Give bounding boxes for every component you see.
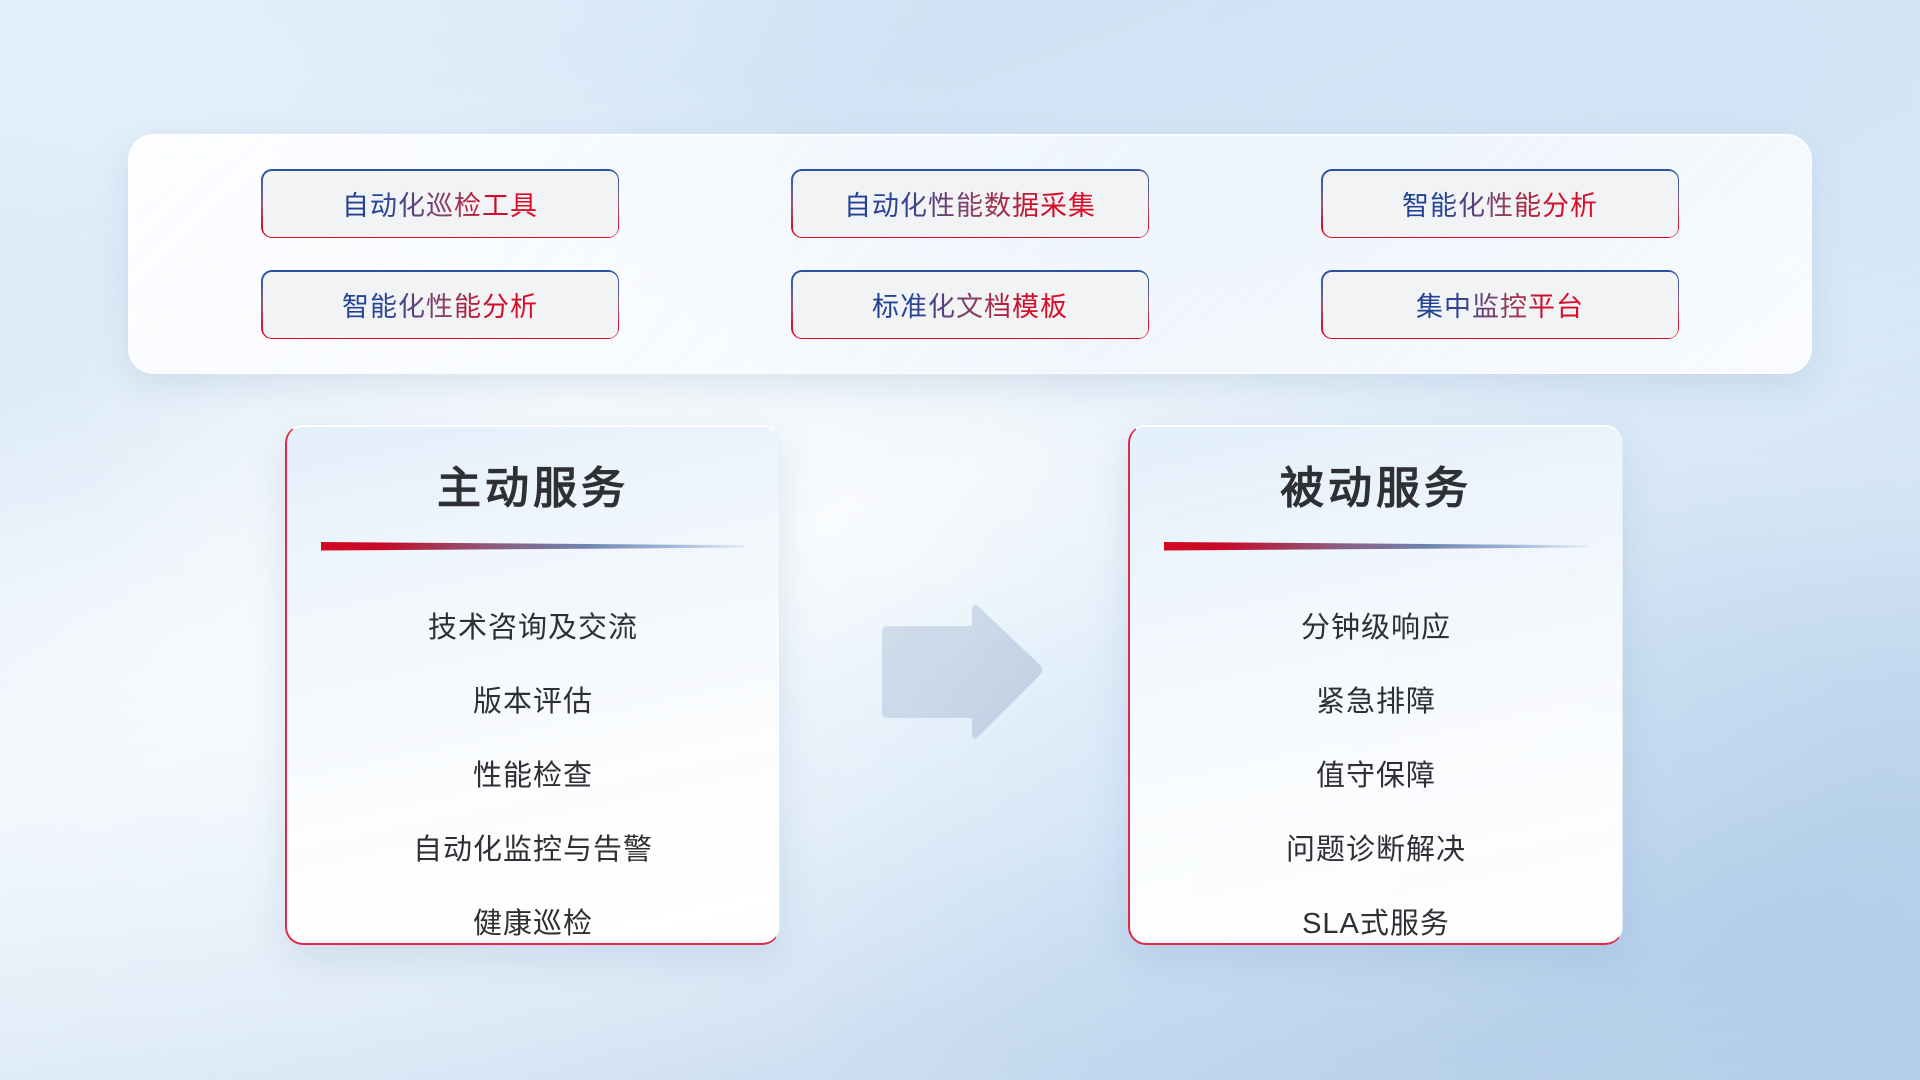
- service-card-proactive-title: 主动服务: [287, 452, 779, 516]
- capability-tag-4-label: 标准化文档模板: [872, 285, 1068, 324]
- slide-canvas: 自动化巡检工具 自动化性能数据采集 智能化性能分析 智能化性能分析: [0, 0, 1920, 1080]
- capability-tag-4-surface: 标准化文档模板: [793, 272, 1148, 338]
- list-item: 技术咨询及交流: [287, 588, 779, 662]
- list-item: SLA式服务: [1130, 884, 1622, 945]
- list-item: 版本评估: [287, 662, 779, 736]
- service-card-proactive-divider: [321, 538, 745, 554]
- list-item: 值守保障: [1130, 736, 1622, 810]
- capability-tag-5-surface: 集中监控平台: [1323, 272, 1678, 338]
- list-item: 分钟级响应: [1130, 588, 1622, 662]
- capability-tag-1-label: 自动化性能数据采集: [844, 184, 1096, 223]
- arrow-right-icon: [876, 602, 1044, 744]
- capability-tag-1[interactable]: 自动化性能数据采集: [793, 171, 1148, 237]
- tapered-gradient-rule-icon: [1164, 540, 1588, 551]
- capability-tag-4[interactable]: 标准化文档模板: [793, 272, 1148, 338]
- service-card-proactive[interactable]: 主动服务 技术咨询及交流 版本评估 性能检查: [285, 425, 780, 945]
- service-card-reactive-divider: [1164, 538, 1588, 554]
- capability-tag-0-surface: 自动化巡检工具: [263, 171, 618, 237]
- list-item: 性能检查: [287, 736, 779, 810]
- service-card-proactive-list: 技术咨询及交流 版本评估 性能检查 自动化监控与告警 健康巡检: [287, 588, 779, 945]
- capability-tag-3-surface: 智能化性能分析: [263, 272, 618, 338]
- list-item: 自动化监控与告警: [287, 810, 779, 884]
- tapered-gradient-rule-icon: [321, 540, 745, 551]
- capability-tag-1-surface: 自动化性能数据采集: [793, 171, 1148, 237]
- list-item: 紧急排障: [1130, 662, 1622, 736]
- capability-tag-5[interactable]: 集中监控平台: [1323, 272, 1678, 338]
- service-card-reactive[interactable]: 被动服务 分钟级响应 紧急排障 值守保障: [1128, 425, 1623, 945]
- list-item: 问题诊断解决: [1130, 810, 1622, 884]
- service-card-reactive-list: 分钟级响应 紧急排障 值守保障 问题诊断解决 SLA式服务: [1130, 588, 1622, 945]
- capability-tag-2-surface: 智能化性能分析: [1323, 171, 1678, 237]
- capability-tag-3-label: 智能化性能分析: [342, 285, 538, 324]
- list-item: 健康巡检: [287, 884, 779, 945]
- capability-tags-grid: 自动化巡检工具 自动化性能数据采集 智能化性能分析 智能化性能分析: [129, 135, 1811, 373]
- capability-tags-panel: 自动化巡检工具 自动化性能数据采集 智能化性能分析 智能化性能分析: [128, 134, 1812, 374]
- capability-tag-0-label: 自动化巡检工具: [342, 184, 538, 223]
- capability-tag-5-label: 集中监控平台: [1416, 285, 1584, 324]
- capability-tag-2-label: 智能化性能分析: [1402, 184, 1598, 223]
- capability-tag-3[interactable]: 智能化性能分析: [263, 272, 618, 338]
- capability-tag-2[interactable]: 智能化性能分析: [1323, 171, 1678, 237]
- service-card-reactive-title: 被动服务: [1130, 452, 1622, 516]
- capability-tag-0[interactable]: 自动化巡检工具: [263, 171, 618, 237]
